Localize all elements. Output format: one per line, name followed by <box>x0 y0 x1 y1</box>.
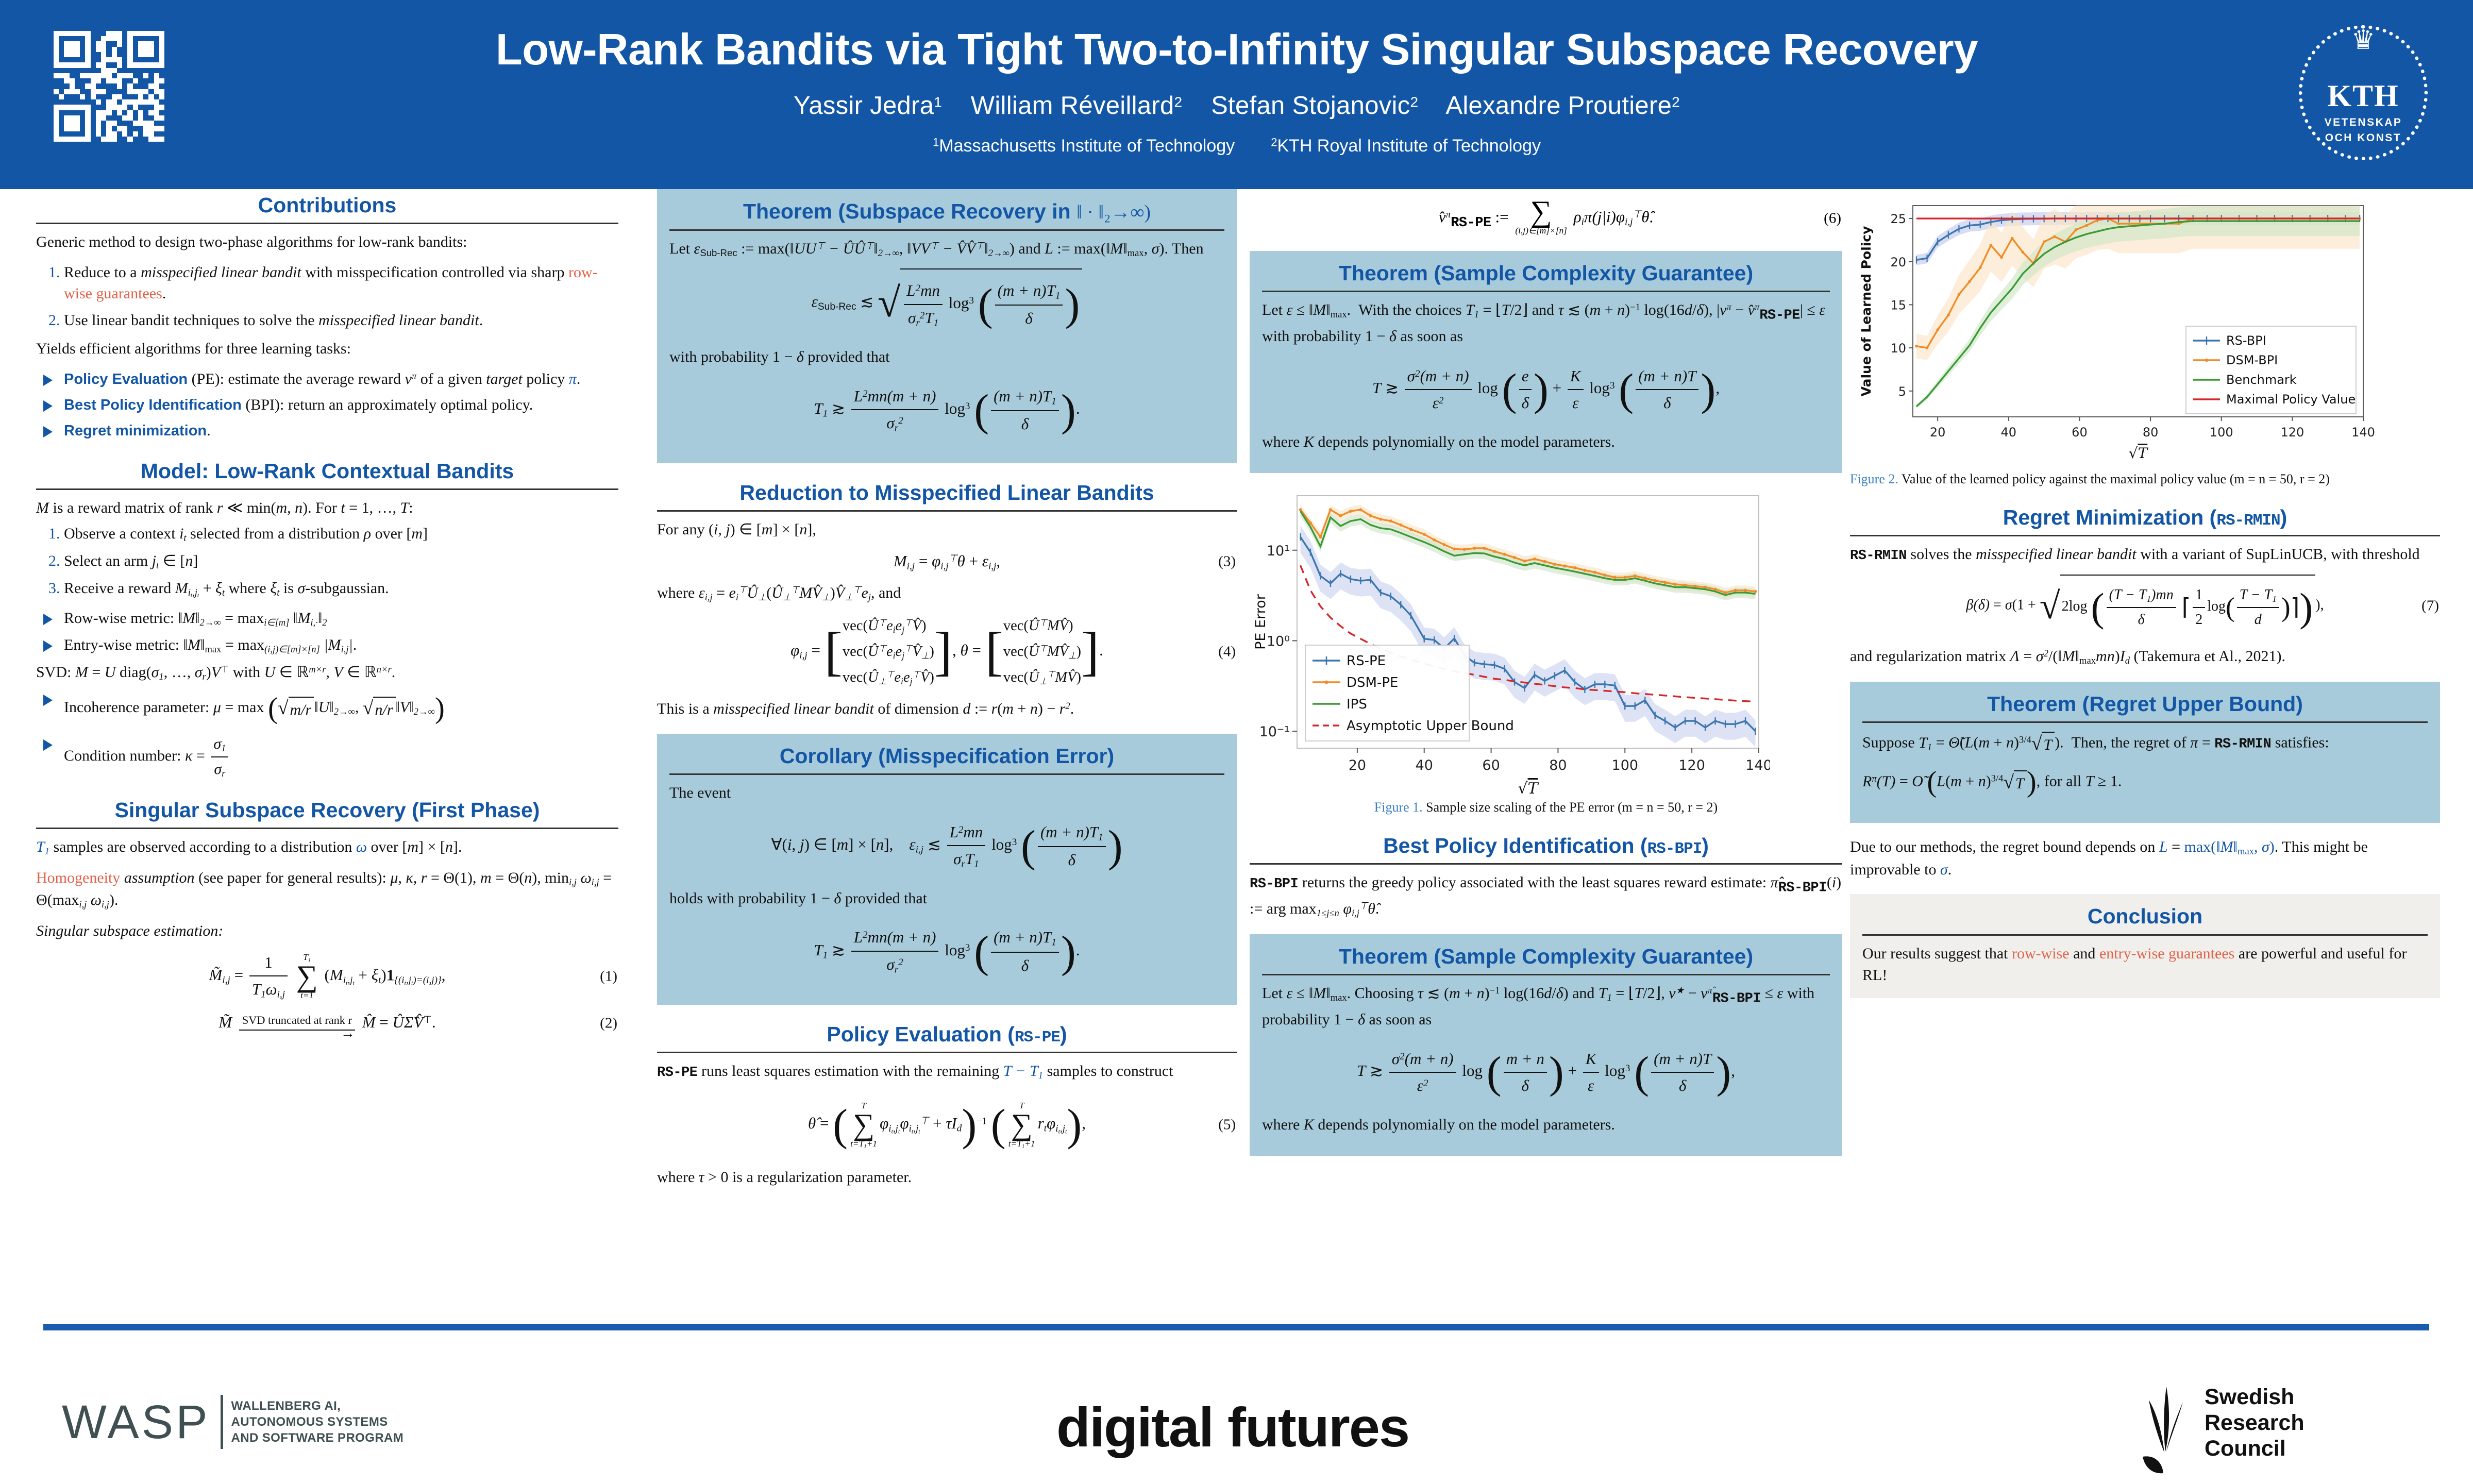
svg-text:Value of Learned Policy: Value of Learned Policy <box>1859 226 1874 397</box>
affiliation: 2KTH Royal Institute of Technology <box>1271 136 1541 156</box>
equation-number: (4) <box>1218 640 1236 663</box>
equation-5: θ̂ = (T∑t=T1+1φit,jtφit,jt⊤ + τId)−1 (T∑… <box>657 1091 1237 1158</box>
section-regret-minimization: Regret Minimization (RS-RMIN) RS-RMIN so… <box>1850 501 2440 668</box>
equation-4: φi,j = [ vec(Û⊤eiej⊤V̂) vec(Û⊤eiej⊤V̂⊥) … <box>657 613 1237 690</box>
qr-code[interactable] <box>54 31 164 142</box>
svg-text:100: 100 <box>2210 425 2233 440</box>
src-line-1: Swedish <box>2205 1385 2304 1410</box>
equation-3: Mi,j = φi,j⊤θ + εi,j, (3) <box>657 549 1237 574</box>
svg-text:10⁻¹: 10⁻¹ <box>1259 724 1290 740</box>
divider <box>1862 934 2428 936</box>
figure-1-chart: 10¹10⁰10⁻¹20406080100120140√TPE ErrorRS-… <box>1250 486 1842 796</box>
equation-bpi-sample-bound: T ≳ σ2(m + n)ε2 log (m + nδ) + Kε log3 (… <box>1262 1039 1830 1106</box>
section-title: Best Policy Identification (RS-BPI) <box>1250 830 1842 864</box>
figure-2-chart: 51015202520406080100120140√TValue of Lea… <box>1850 194 2440 467</box>
equation-pe-sample-bound: T ≳ σ2(m + n)ε2 log (eδ) + Kε log3 ((m +… <box>1262 356 1830 423</box>
thm-bpi-p1: Let ε ≤ ‖M‖max. Choosing τ ≲ (m + n)−1 l… <box>1262 983 1830 1031</box>
ssr-p3: Singular subspace estimation: <box>36 920 618 942</box>
equation-6: v̂πRS-PE := ∑(i,j)∈[m]×[n] ρiπ(j|i)φi,j⊤… <box>1250 199 1842 238</box>
theorem-pe-sample-complexity: Theorem (Sample Complexity Guarantee) Le… <box>1250 251 1842 473</box>
column-1: Contributions Generic method to design t… <box>36 189 618 1050</box>
equation-number: (5) <box>1218 1114 1236 1136</box>
section-contributions: Contributions Generic method to design t… <box>36 189 618 442</box>
equation-2: M̃ SVD truncated at rank r → M̂ = ÛΣ̂V̂⊤… <box>36 1010 618 1036</box>
corollary-p1: The event <box>669 782 1224 804</box>
svg-text:40: 40 <box>2001 425 2017 440</box>
svg-text:DSM-BPI: DSM-BPI <box>2226 353 2278 367</box>
equation-t1-bound: T1 ≳ L2mn(m + n)σr2 log3 ((m + n)T1δ). <box>669 377 1224 444</box>
divider <box>1850 535 2440 536</box>
conclusion-text: Our results suggest that row-wise and en… <box>1862 943 2428 987</box>
figure-2-caption: Figure 2. Value of the learned policy ag… <box>1850 470 2440 488</box>
divider <box>36 223 618 224</box>
contributions-list: Reduce to a misspecified linear bandit w… <box>36 262 618 331</box>
crown-icon: ♛ <box>2351 27 2376 54</box>
section-title: Theorem (Subspace Recovery in ‖ · ‖₂→∞) <box>669 195 1224 229</box>
svg-text:IPS: IPS <box>1347 697 1367 712</box>
column-2: Theorem (Subspace Recovery in ‖ · ‖₂→∞) … <box>657 189 1237 1202</box>
corollary-p2: holds with probability 1 − δ provided th… <box>669 888 1224 910</box>
svg-text:20: 20 <box>1349 757 1366 773</box>
ssr-p1: T1 samples are observed according to a d… <box>36 836 618 859</box>
figure-1-caption: Figure 1. Sample size scaling of the PE … <box>1250 799 1842 816</box>
theorem-bpi-sample-complexity: Theorem (Sample Complexity Guarantee) Le… <box>1250 934 1842 1156</box>
contributions-intro: Generic method to design two-phase algor… <box>36 231 618 254</box>
poster-header: Low-Rank Bandits via Tight Two-to-Infini… <box>0 0 2473 189</box>
regret-note: Due to our methods, the regret bound dep… <box>1850 836 2440 881</box>
svd-arrow-label: SVD truncated at rank r <box>239 1011 355 1030</box>
leaf-icon <box>2133 1385 2195 1477</box>
section-title: Singular Subspace Recovery (First Phase) <box>36 794 618 828</box>
theorem-subspace-recovery: Theorem (Subspace Recovery in ‖ · ‖₂→∞) … <box>657 189 1237 463</box>
kth-logo-name: KTH <box>2294 78 2433 114</box>
equation-number: (7) <box>2421 595 2439 617</box>
equation-t1-bound-2: T1 ≳ L2mn(m + n)σr2 log3 ((m + n)T1δ). <box>669 918 1224 985</box>
divider <box>1262 974 1830 975</box>
svg-text:Maximal Policy Value: Maximal Policy Value <box>2226 392 2356 407</box>
divider <box>669 229 1224 231</box>
svg-text:140: 140 <box>1745 757 1770 773</box>
svg-text:80: 80 <box>1549 757 1567 773</box>
svg-text:10: 10 <box>1890 341 1906 356</box>
divider <box>1262 291 1830 292</box>
kth-motto-2: OCH KONST <box>2294 132 2433 144</box>
list-item: Incoherence parameter: μ = max (√m/r‖U‖2… <box>40 688 618 729</box>
wasp-line-2: AUTONOMOUS SYSTEMS <box>231 1414 404 1430</box>
svg-text:10⁰: 10⁰ <box>1267 633 1290 649</box>
poster-footer: WASP WALLENBERG AI, AUTONOMOUS SYSTEMS A… <box>0 1312 2473 1484</box>
list-item: Receive a reward Mit,jt + ξt where ξt is… <box>64 578 618 600</box>
divider <box>221 1395 223 1449</box>
svg-text:PE Error: PE Error <box>1253 594 1269 650</box>
divider <box>657 510 1237 512</box>
theorem-statement: Let εSub-Rec := max(‖UU⊤ − ÛÛ⊤‖2→∞, ‖VV⊤… <box>669 238 1224 261</box>
thm-bpi-p2: where K depends polynomially on the mode… <box>1262 1114 1830 1136</box>
svg-text:10¹: 10¹ <box>1267 543 1290 559</box>
svg-text:60: 60 <box>2072 425 2088 440</box>
divider <box>1250 863 1842 865</box>
divider <box>1862 721 2428 723</box>
section-title: Corollary (Misspecification Error) <box>669 740 1224 773</box>
equation-event: ∀(i, j) ∈ [m] × [n], εi,j ≲ L2mnσrT1 log… <box>669 813 1224 880</box>
svg-text:20: 20 <box>1890 255 1906 269</box>
section-model: Model: Low-Rank Contextual Bandits M is … <box>36 455 618 781</box>
author-list: Yassir Jedra1 William Réveillard2 Stefan… <box>361 91 2113 120</box>
author: Stefan Stojanovic2 <box>1211 92 1418 120</box>
rmin-p2: and regularization matrix Λ = σ2/(‖M‖max… <box>1850 646 2440 668</box>
contributions-yields: Yields efficient algorithms for three le… <box>36 338 618 360</box>
svg-text:20: 20 <box>1930 425 1946 440</box>
figure-1-svg: 10¹10⁰10⁻¹20406080100120140√TPE ErrorRS-… <box>1250 486 1770 796</box>
svg-text:Benchmark: Benchmark <box>2226 373 2297 387</box>
svg-text:Asymptotic Upper Bound: Asymptotic Upper Bound <box>1347 718 1514 734</box>
src-line-2: Research <box>2205 1410 2304 1436</box>
affiliation: 1Massachusetts Institute of Technology <box>933 136 1235 156</box>
equation-subrec-bound: εSub-Rec ≲ √ L2mnσr2T1 log3 ((m + n)T1δ) <box>669 268 1224 338</box>
figure-2-block: 51015202520406080100120140√TValue of Lea… <box>1850 194 2440 488</box>
section-policy-evaluation: Policy Evaluation (RS-PE) RS-PE runs lea… <box>657 1018 1237 1189</box>
section-title: Model: Low-Rank Contextual Bandits <box>36 455 618 488</box>
thm-pe-p2: where K depends polynomially on the mode… <box>1262 431 1830 453</box>
reduction-p3: This is a misspecified linear bandit of … <box>657 698 1237 720</box>
section-title: Policy Evaluation (RS-PE) <box>657 1018 1237 1052</box>
svg-text:140: 140 <box>2351 425 2375 440</box>
section-title: Contributions <box>36 189 618 223</box>
author: Yassir Jedra1 <box>794 92 942 120</box>
equation-1: M̃i,j = 1T1ωi,j T1∑t=1 (Mit,jt + ξt)1{(i… <box>36 951 618 1003</box>
src-wordmark: Swedish Research Council <box>2205 1385 2304 1462</box>
list-item: Best Policy Identification (BPI): return… <box>40 394 618 415</box>
svg-text:RS-BPI: RS-BPI <box>2226 333 2266 348</box>
section-conclusion: Conclusion Our results suggest that row-… <box>1850 894 2440 998</box>
section-title: Theorem (Sample Complexity Guarantee) <box>1262 940 1830 974</box>
bpi-p1: RS-BPI returns the greedy policy associa… <box>1250 872 1842 920</box>
list-item: Select an arm jt ∈ [n] <box>64 550 618 572</box>
divider <box>36 828 618 829</box>
svg-text:RS-PE: RS-PE <box>1347 653 1386 669</box>
ssr-p2: Homogeneity assumption (see paper for ge… <box>36 867 618 912</box>
svg-text:60: 60 <box>1482 757 1500 773</box>
svg-text:25: 25 <box>1890 212 1906 226</box>
divider <box>36 488 618 490</box>
section-title: Reduction to Misspecified Linear Bandits <box>657 477 1237 510</box>
section-title: Theorem (Sample Complexity Guarantee) <box>1262 257 1830 291</box>
pe-p2: where τ > 0 is a regularization paramete… <box>657 1167 1237 1189</box>
equation-number: (6) <box>1824 207 1841 230</box>
model-steps: Observe a context it selected from a dis… <box>36 523 618 600</box>
thm-pe-p1: Let ε ≤ ‖M‖max. With the choices T1 = ⌊T… <box>1262 299 1830 347</box>
equation-number: (2) <box>600 1012 617 1035</box>
author: William Réveillard2 <box>971 92 1183 120</box>
divider <box>669 773 1224 775</box>
author: Alexandre Proutiere2 <box>1445 92 1680 120</box>
wasp-wordmark: WASP <box>62 1398 210 1446</box>
section-best-policy-identification: Best Policy Identification (RS-BPI) RS-B… <box>1250 830 1842 921</box>
kth-motto-1: VETENSKAP <box>2294 116 2433 129</box>
model-metrics: Row-wise metric: ‖M‖2→∞ = maxi∈[m] ‖Mi,·… <box>36 608 618 656</box>
title-block: Low-Rank Bandits via Tight Two-to-Infini… <box>361 27 2113 156</box>
figure-1-block: 10¹10⁰10⁻¹20406080100120140√TPE ErrorRS-… <box>1250 486 1842 816</box>
svg-text:100: 100 <box>1612 757 1639 773</box>
equation-7: β(δ) = σ(1 + √ 2log ((T − T1)mnδ ⌈12log(… <box>1850 575 2440 638</box>
column-3: v̂πRS-PE := ∑(i,j)∈[m]×[n] ρiπ(j|i)φi,j⊤… <box>1250 189 1842 1169</box>
wasp-logo: WASP WALLENBERG AI, AUTONOMOUS SYSTEMS A… <box>62 1395 403 1449</box>
list-item: Policy Evaluation (PE): estimate the ave… <box>40 368 618 390</box>
thm-regret-p2: Rπ(T) = Ο̃ (L(m + n)3/4√T), for all T ≥ … <box>1862 762 2428 803</box>
divider <box>657 1052 1237 1053</box>
equation-number: (3) <box>1218 550 1236 573</box>
model-svd: SVD: M = U diag(σ1, …, σr)V⊤ with U ∈ ℝm… <box>36 662 618 684</box>
tasks-list: Policy Evaluation (PE): estimate the ave… <box>36 368 618 442</box>
list-item: Regret minimization. <box>40 420 618 441</box>
model-intro: M is a reward matrix of rank r ≪ min(m, … <box>36 497 618 519</box>
list-item: Use linear bandit techniques to solve th… <box>64 310 618 331</box>
poster-body: Contributions Generic method to design t… <box>0 189 2473 1312</box>
wasp-line-1: WALLENBERG AI, <box>231 1398 404 1414</box>
svg-text:DSM-PE: DSM-PE <box>1347 675 1398 690</box>
section-title: Regret Minimization (RS-RMIN) <box>1850 501 2440 535</box>
page-title: Low-Rank Bandits via Tight Two-to-Infini… <box>361 27 2113 73</box>
list-item: Reduce to a misspecified linear bandit w… <box>64 262 618 305</box>
figure-2-svg: 51015202520406080100120140√TValue of Lea… <box>1850 194 2376 467</box>
rmin-p1: RS-RMIN solves the misspecified linear b… <box>1850 544 2440 566</box>
note-text: Due to our methods, the regret bound dep… <box>1850 836 2440 881</box>
list-item: Entry-wise metric: ‖M‖max = max(i,j)∈[m]… <box>40 634 618 656</box>
theorem-regret-upper-bound: Theorem (Regret Upper Bound) Suppose T1 … <box>1850 682 2440 823</box>
equation-number: (1) <box>600 965 617 988</box>
list-item: Observe a context it selected from a dis… <box>64 523 618 545</box>
footer-divider <box>43 1324 2429 1330</box>
svg-text:80: 80 <box>2143 425 2159 440</box>
src-line-3: Council <box>2205 1436 2304 1462</box>
swedish-research-council-logo: Swedish Research Council <box>2133 1385 2304 1477</box>
section-title: Theorem (Regret Upper Bound) <box>1862 688 2428 721</box>
svg-text:120: 120 <box>2280 425 2304 440</box>
pe-p1: RS-PE runs least squares estimation with… <box>657 1060 1237 1083</box>
list-item: Row-wise metric: ‖M‖2→∞ = maxi∈[m] ‖Mi,·… <box>40 608 618 630</box>
reduction-p1: For any (i, j) ∈ [m] × [n], <box>657 519 1237 541</box>
kth-logo: ♛ KTH VETENSKAP OCH KONST <box>2294 15 2433 170</box>
svg-text:15: 15 <box>1890 298 1906 312</box>
equation-6-block: v̂πRS-PE := ∑(i,j)∈[m]×[n] ρiπ(j|i)φi,j⊤… <box>1250 199 1842 238</box>
model-params: Incoherence parameter: μ = max (√m/r‖U‖2… <box>36 688 618 781</box>
thm-regret-p1: Suppose T1 = Θ̃(L(m + n)3/4√T). Then, th… <box>1862 730 2428 757</box>
homogeneity-label: Homogeneity <box>36 869 120 886</box>
corollary-misspecification-error: Corollary (Misspecification Error) The e… <box>657 734 1237 1005</box>
svg-text:40: 40 <box>1416 757 1433 773</box>
list-item: Condition number: κ = σ1σr <box>40 733 618 781</box>
svg-text:√T: √T <box>1518 780 1539 796</box>
svg-text:√T: √T <box>2129 445 2149 462</box>
affiliation-list: 1Massachusetts Institute of Technology2K… <box>361 136 2113 156</box>
reduction-p2: where εi,j = ei⊤Û⊥(Û⊥⊤MV̂⊥)V̂⊥⊤ej, and <box>657 582 1237 605</box>
theorem-condition: with probability 1 − δ provided that <box>669 346 1224 368</box>
wasp-line-3: AND SOFTWARE PROGRAM <box>231 1430 404 1446</box>
section-reduction: Reduction to Misspecified Linear Bandits… <box>657 477 1237 720</box>
section-title: Conclusion <box>1862 900 2428 934</box>
digital-futures-logo: digital futures <box>1056 1395 1409 1459</box>
section-singular-subspace-recovery: Singular Subspace Recovery (First Phase)… <box>36 794 618 1036</box>
wasp-tagline: WALLENBERG AI, AUTONOMOUS SYSTEMS AND SO… <box>231 1398 404 1446</box>
svg-text:120: 120 <box>1678 757 1705 773</box>
column-4: 51015202520406080100120140√TValue of Lea… <box>1850 189 2440 1011</box>
svg-text:5: 5 <box>1898 384 1906 399</box>
